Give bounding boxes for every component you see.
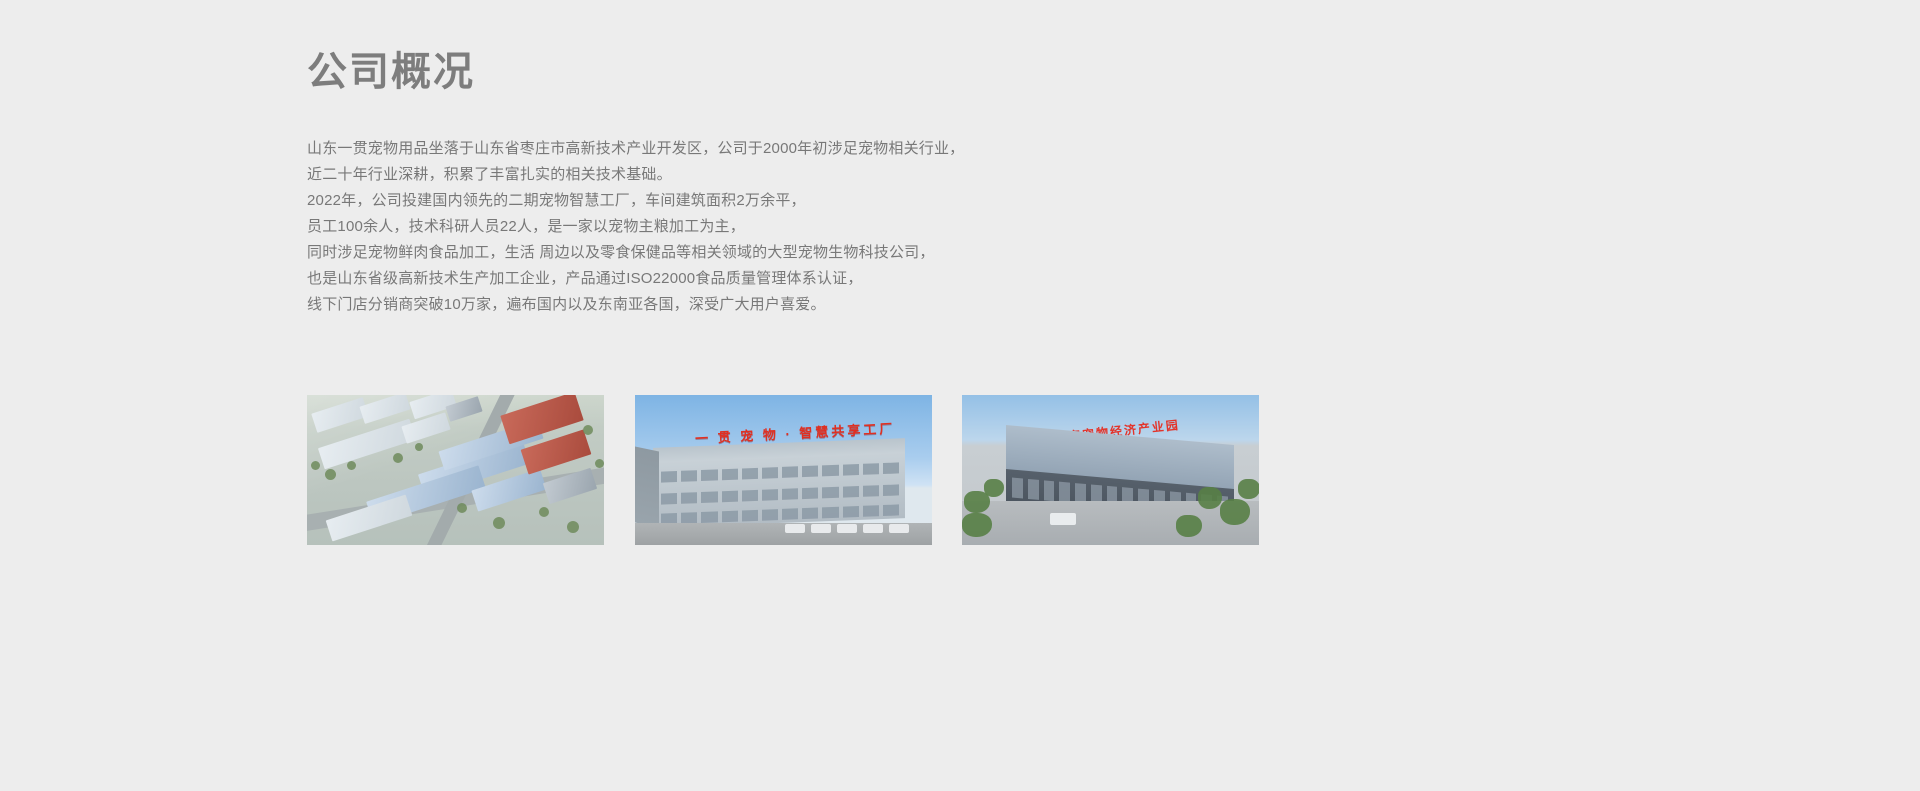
- description-line: 也是山东省级高新技术生产加工企业，产品通过ISO22000食品质量管理体系认证，: [307, 266, 1307, 292]
- gallery-photo-aerial-industrial-park: [307, 395, 604, 545]
- shrub: [962, 513, 992, 537]
- description-line: 线下门店分销商突破10万家，遍布国内以及东南亚各国，深受广大用户喜爱。: [307, 292, 1307, 318]
- parked-car: [863, 524, 883, 533]
- description-line: 近二十年行业深耕，积累了丰富扎实的相关技术基础。: [307, 162, 1307, 188]
- building-block: [543, 468, 597, 504]
- parked-car: [837, 524, 857, 533]
- description-line: 同时涉足宠物鲜肉食品加工，生活 周边以及零食保健品等相关领域的大型宠物生物科技公…: [307, 240, 1307, 266]
- shrub: [1176, 515, 1202, 537]
- company-profile-page: 公司概况 山东一贯宠物用品坐落于山东省枣庄市高新技术产业开发区，公司于2000年…: [0, 0, 1920, 791]
- company-description: 山东一贯宠物用品坐落于山东省枣庄市高新技术产业开发区，公司于2000年初涉足宠物…: [307, 96, 1307, 318]
- tree: [347, 461, 356, 470]
- parked-car: [785, 524, 805, 533]
- tree: [457, 503, 467, 513]
- tree: [567, 521, 579, 533]
- page-title: 公司概况: [307, 0, 1307, 96]
- gallery-photo-factory-facade: 一 贯 宠 物 · 智慧共享工厂: [635, 395, 932, 545]
- parked-van: [1050, 513, 1076, 525]
- shrub: [1220, 499, 1250, 525]
- building-block: [401, 412, 450, 443]
- content-column: 公司概况 山东一贯宠物用品坐落于山东省枣庄市高新技术产业开发区，公司于2000年…: [307, 0, 1307, 318]
- gallery-photo-pet-economy-park: 智慧共享宠物经济产业园: [962, 395, 1259, 545]
- description-line: 2022年，公司投建国内领先的二期宠物智慧工厂，车间建筑面积2万余平，: [307, 188, 1307, 214]
- parked-car: [889, 524, 909, 533]
- factory-building-side: [635, 446, 659, 527]
- photo-gallery: 一 贯 宠 物 · 智慧共享工厂 智慧共享宠物经济产业园: [307, 395, 1259, 545]
- parked-car: [811, 524, 831, 533]
- parking-ground: [635, 523, 932, 545]
- description-line: 山东一贯宠物用品坐落于山东省枣庄市高新技术产业开发区，公司于2000年初涉足宠物…: [307, 136, 1307, 162]
- tree: [595, 459, 604, 468]
- tree: [325, 469, 336, 480]
- tree: [493, 517, 505, 529]
- shrub: [984, 479, 1004, 497]
- tree: [415, 443, 423, 451]
- shrub: [1238, 479, 1259, 499]
- description-line: 员工100余人，技术科研人员22人，是一家以宠物主粮加工为主，: [307, 214, 1307, 240]
- tree: [393, 453, 403, 463]
- tree: [583, 425, 593, 435]
- tree: [311, 461, 320, 470]
- building-block: [311, 397, 369, 433]
- tree: [539, 507, 549, 517]
- shrub: [1198, 487, 1222, 509]
